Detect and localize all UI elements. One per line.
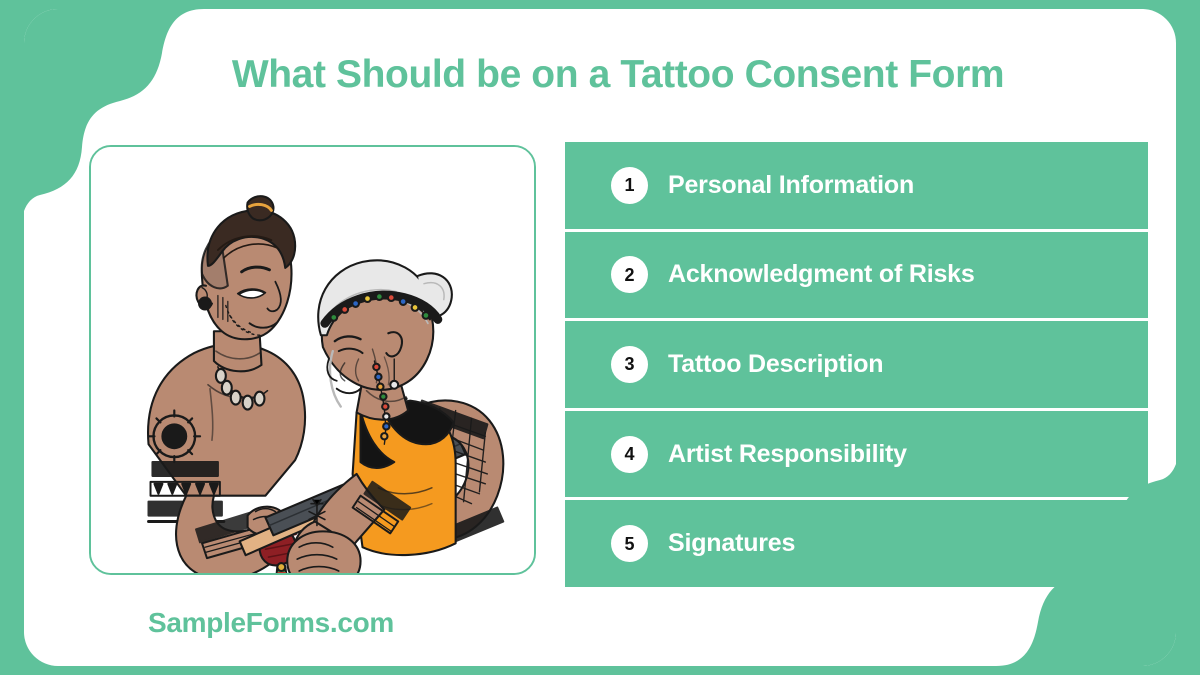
item-label: Artist Responsibility [668,440,907,469]
list-item[interactable]: 2 Acknowledgment of Risks [565,232,1148,319]
item-number-badge: 4 [611,436,648,473]
item-number-badge: 2 [611,256,648,293]
item-label: Personal Information [668,171,914,200]
item-number-badge: 3 [611,346,648,383]
item-number-badge: 1 [611,167,648,204]
item-label: Acknowledgment of Risks [668,260,975,289]
item-number-badge: 5 [611,525,648,562]
content-panel: What Should be on a Tattoo Consent Form [24,9,1176,666]
illustration-card [89,145,536,575]
poster-root: What Should be on a Tattoo Consent Form [0,0,1200,675]
list-item[interactable]: 1 Personal Information [565,142,1148,229]
list-item[interactable]: 5 Signatures [565,500,1148,587]
page-title: What Should be on a Tattoo Consent Form [24,53,1176,97]
list-item[interactable]: 3 Tattoo Description [565,321,1148,408]
item-label: Tattoo Description [668,350,883,379]
brand-wordmark: SampleForms.com [148,607,394,639]
item-label: Signatures [668,529,795,558]
tattoo-session-illustration [91,147,534,573]
checklist: 1 Personal Information 2 Acknowledgment … [565,142,1148,587]
list-item[interactable]: 4 Artist Responsibility [565,411,1148,498]
